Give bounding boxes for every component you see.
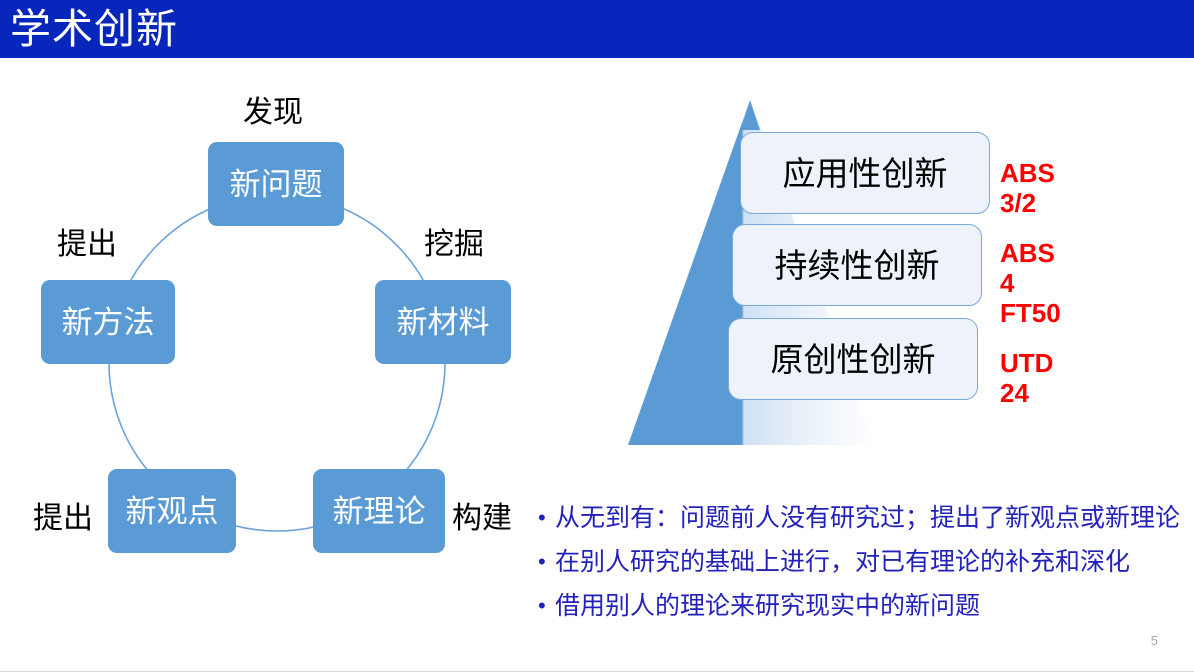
bullet-item-2: 在别人研究的基础上进行，对已有理论的补充和深化 (538, 540, 1194, 584)
bullet-item-1: 从无到有：问题前人没有研究过；提出了新观点或新理论 (538, 496, 1194, 540)
innovation-pyramid-diagram: 应用性创新 持续性创新 原创性创新 ABS 3/2 ABS 4 FT50 UTD… (600, 90, 1020, 460)
cycle-node-new-problem[interactable]: 新问题 (208, 142, 344, 226)
slide: 学术创新 发现 挖掘 构建 提出 提出 新问题 新材料 新理论 新观点 新方法 (0, 0, 1194, 672)
title-bar: 学术创新 (0, 0, 1194, 58)
cycle-node-new-viewpoint[interactable]: 新观点 (108, 469, 236, 553)
cycle-node-new-theory[interactable]: 新理论 (313, 469, 445, 553)
cycle-verb-propose-viewpoint: 提出 (33, 504, 93, 534)
page-number: 5 (1151, 634, 1158, 647)
cycle-node-new-material[interactable]: 新材料 (375, 280, 511, 364)
pyramid-level-applied[interactable]: 应用性创新 (740, 132, 990, 214)
pyramid-apex (740, 100, 760, 130)
pyramid-tag-sustained: ABS 4 FT50 (1000, 238, 1061, 328)
pyramid-level-sustained[interactable]: 持续性创新 (732, 224, 982, 306)
cycle-node-new-method[interactable]: 新方法 (41, 280, 175, 364)
pyramid-tag-original: UTD 24 (1000, 348, 1053, 408)
pyramid-tag-applied: ABS 3/2 (1000, 158, 1055, 218)
page-title: 学术创新 (10, 3, 178, 55)
cycle-verb-propose-method: 提出 (57, 230, 117, 260)
cycle-verb-discover: 发现 (243, 98, 303, 128)
bullet-list: 从无到有：问题前人没有研究过；提出了新观点或新理论 在别人研究的基础上进行，对已… (538, 496, 1194, 628)
pyramid-level-original[interactable]: 原创性创新 (728, 318, 978, 400)
cycle-verb-excavate: 挖掘 (424, 230, 484, 260)
bullet-item-3: 借用别人的理论来研究现实中的新问题 (538, 584, 1194, 628)
cycle-verb-construct: 构建 (452, 504, 512, 534)
innovation-cycle-diagram: 发现 挖掘 构建 提出 提出 新问题 新材料 新理论 新观点 新方法 (0, 58, 560, 588)
